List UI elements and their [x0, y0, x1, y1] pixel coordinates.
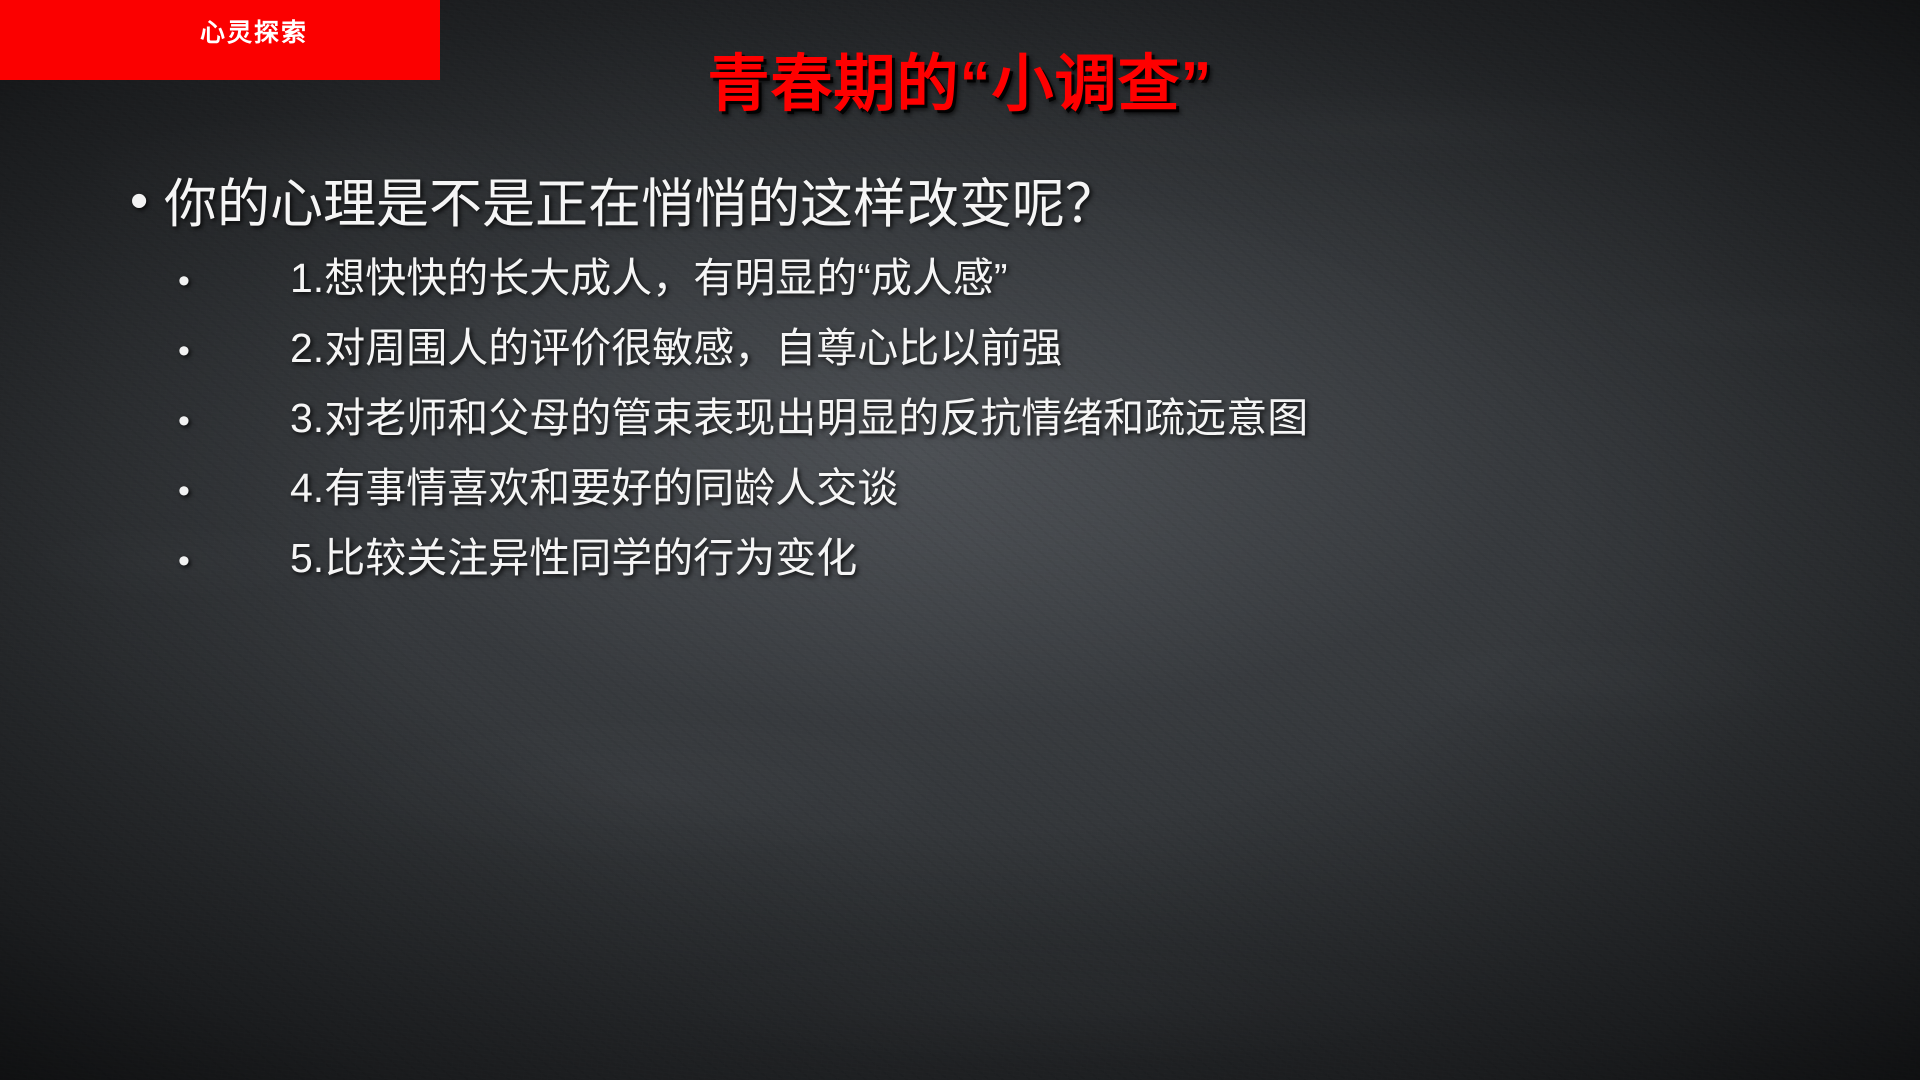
bullet-marker-icon: •: [178, 544, 290, 578]
corner-banner-label: 心灵探索: [200, 13, 308, 49]
corner-banner: 心灵探索: [0, 0, 440, 80]
bullet-item-level1: • 你的心理是不是正在悄悄的这样改变呢？: [0, 175, 1920, 234]
bullet-item-level2-5: • 5.比较关注异性同学的行为变化: [0, 536, 1920, 582]
bullet-marker-icon: •: [178, 334, 290, 368]
bullet-marker-icon: •: [178, 404, 290, 438]
bullet-text: 5.比较关注异性同学的行为变化: [290, 536, 857, 582]
bullet-marker-icon: •: [130, 175, 164, 227]
bullet-text: 你的心理是不是正在悄悄的这样改变呢？: [164, 175, 1118, 234]
bullet-item-level2-2: • 2.对周围人的评价很敏感，自尊心比以前强: [0, 326, 1920, 372]
bullet-text: 4.有事情喜欢和要好的同龄人交谈: [290, 466, 898, 512]
bullet-item-level2-1: • 1.想快快的长大成人，有明显的“成人感”: [0, 256, 1920, 302]
bullet-text: 1.想快快的长大成人，有明显的“成人感”: [290, 256, 1008, 302]
bullet-marker-icon: •: [178, 474, 290, 508]
slide-body: • 你的心理是不是正在悄悄的这样改变呢？ • 1.想快快的长大成人，有明显的“成…: [0, 175, 1920, 606]
presentation-slide: 心灵探索 青春期的“小调查” • 你的心理是不是正在悄悄的这样改变呢？ • 1.…: [0, 0, 1920, 1080]
bullet-text: 3.对老师和父母的管束表现出明显的反抗情绪和疏远意图: [290, 396, 1308, 442]
bullet-text: 2.对周围人的评价很敏感，自尊心比以前强: [290, 326, 1062, 372]
bullet-marker-icon: •: [178, 264, 290, 298]
bullet-item-level2-4: • 4.有事情喜欢和要好的同龄人交谈: [0, 466, 1920, 512]
bullet-item-level2-3: • 3.对老师和父母的管束表现出明显的反抗情绪和疏远意图: [0, 396, 1920, 442]
